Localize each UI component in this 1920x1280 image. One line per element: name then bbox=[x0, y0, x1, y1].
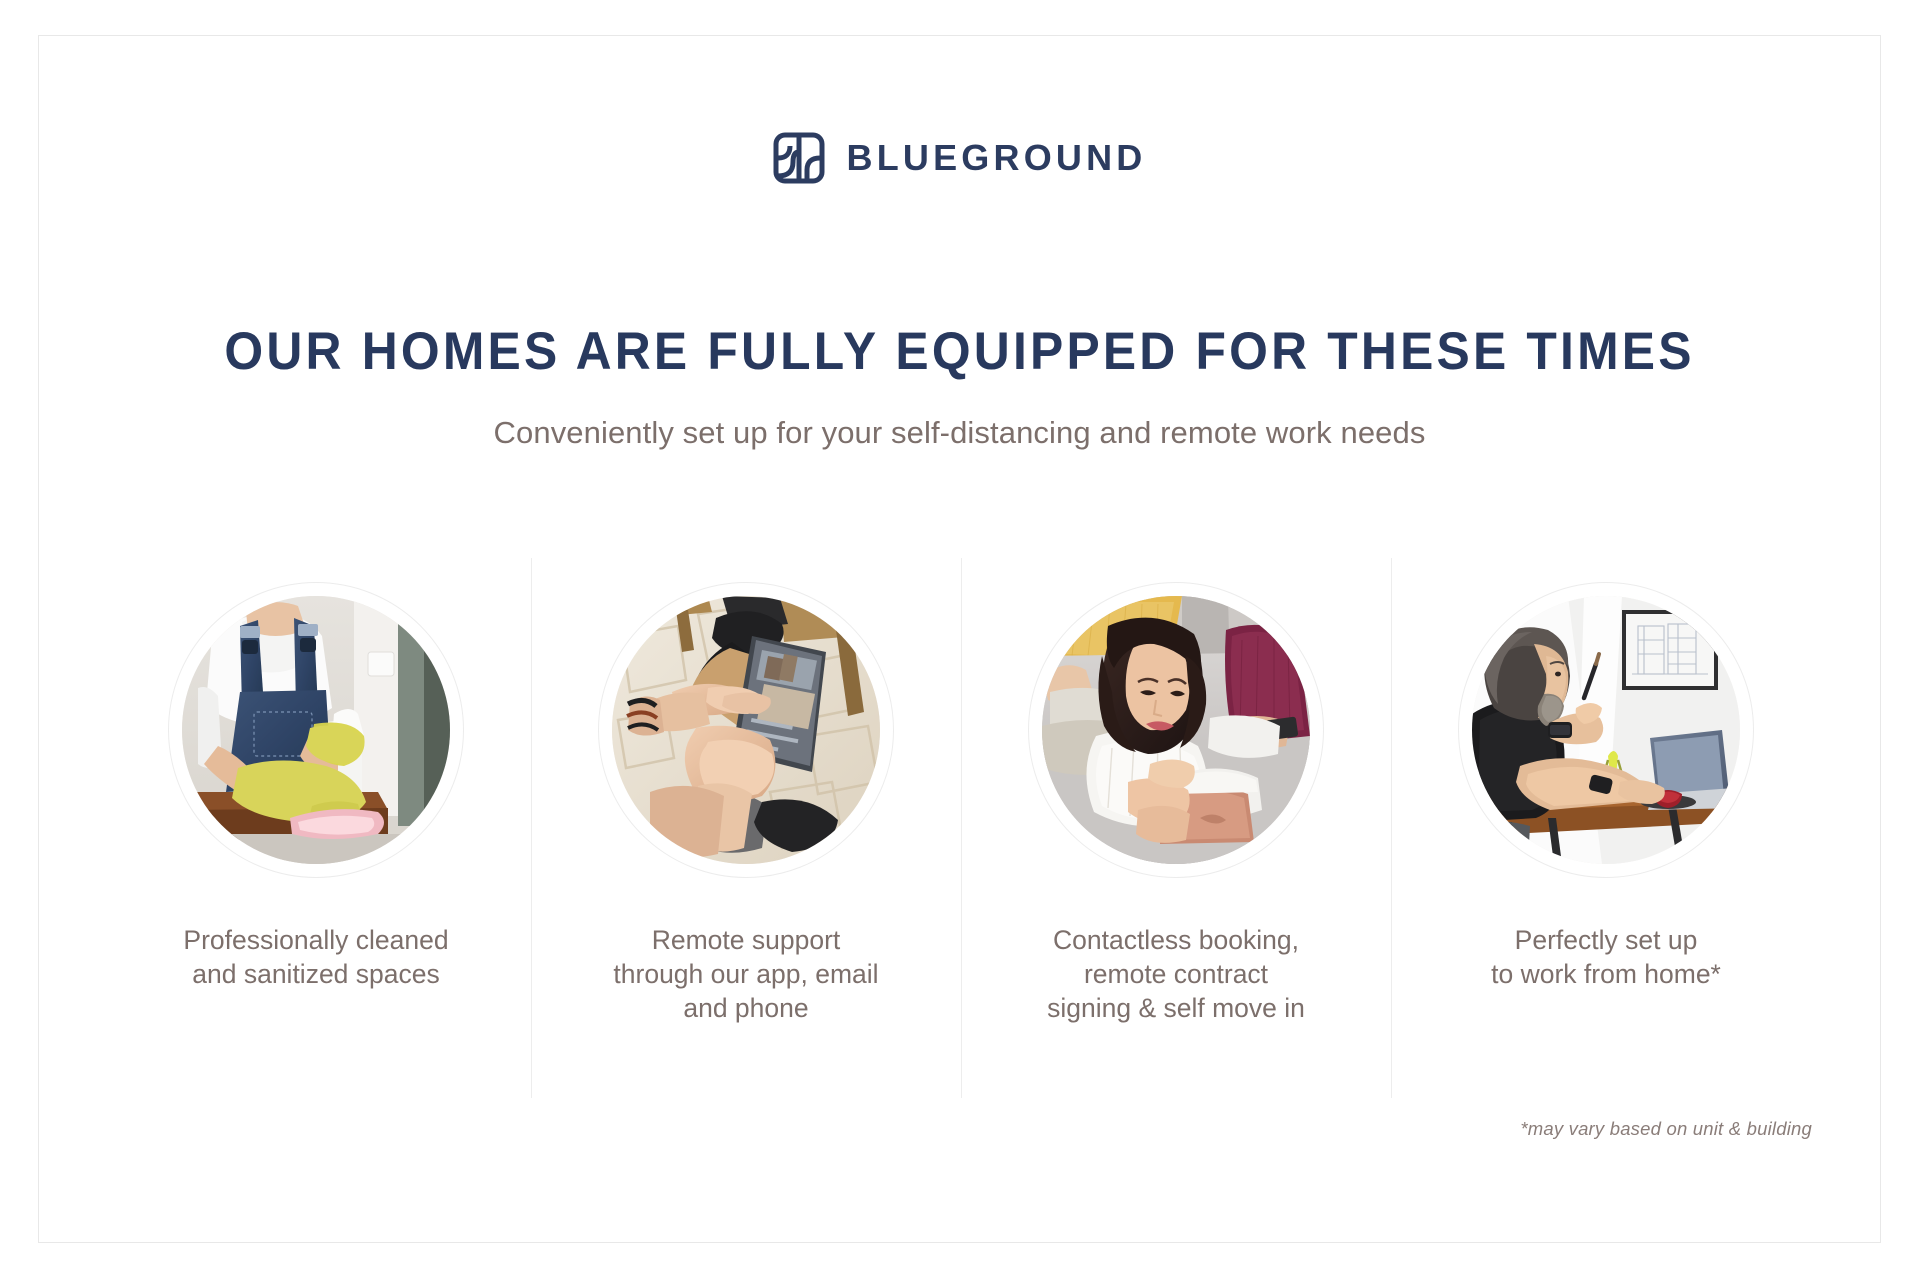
photo-ring bbox=[1458, 582, 1754, 878]
page-subtitle: Conveniently set up for your self-distan… bbox=[39, 414, 1880, 451]
feature-caption: Remote support through our app, email an… bbox=[613, 924, 878, 1026]
photo-ring bbox=[598, 582, 894, 878]
poster-frame: BLUEGROUND OUR HOMES ARE FULLY EQUIPPED … bbox=[38, 35, 1881, 1243]
photo-ring bbox=[168, 582, 464, 878]
page-title: OUR HOMES ARE FULLY EQUIPPED FOR THESE T… bbox=[94, 324, 1825, 380]
blueground-square-logo-icon bbox=[773, 132, 825, 184]
feature-caption: Perfectly set up to work from home* bbox=[1491, 924, 1721, 992]
feature-caption: Professionally cleaned and sanitized spa… bbox=[183, 924, 448, 992]
feature-item: Perfectly set up to work from home* bbox=[1391, 556, 1821, 1101]
photo-ring bbox=[1028, 582, 1324, 878]
hands-using-phone-app-photo bbox=[612, 596, 880, 864]
woman-on-bed-with-tablet-photo bbox=[1042, 596, 1310, 864]
footnote: *may vary based on unit & building bbox=[1520, 1118, 1812, 1140]
brand-lockup: BLUEGROUND bbox=[39, 132, 1880, 184]
feature-caption: Contactless booking, remote contract sig… bbox=[1047, 924, 1305, 1026]
cleaner-wiping-counter-photo bbox=[182, 596, 450, 864]
brand-name: BLUEGROUND bbox=[847, 140, 1147, 176]
feature-item: Contactless booking, remote contract sig… bbox=[961, 556, 1391, 1101]
feature-row: Professionally cleaned and sanitized spa… bbox=[101, 556, 1821, 1101]
feature-item: Remote support through our app, email an… bbox=[531, 556, 961, 1101]
man-working-at-desk-photo bbox=[1472, 596, 1740, 864]
feature-item: Professionally cleaned and sanitized spa… bbox=[101, 556, 531, 1101]
